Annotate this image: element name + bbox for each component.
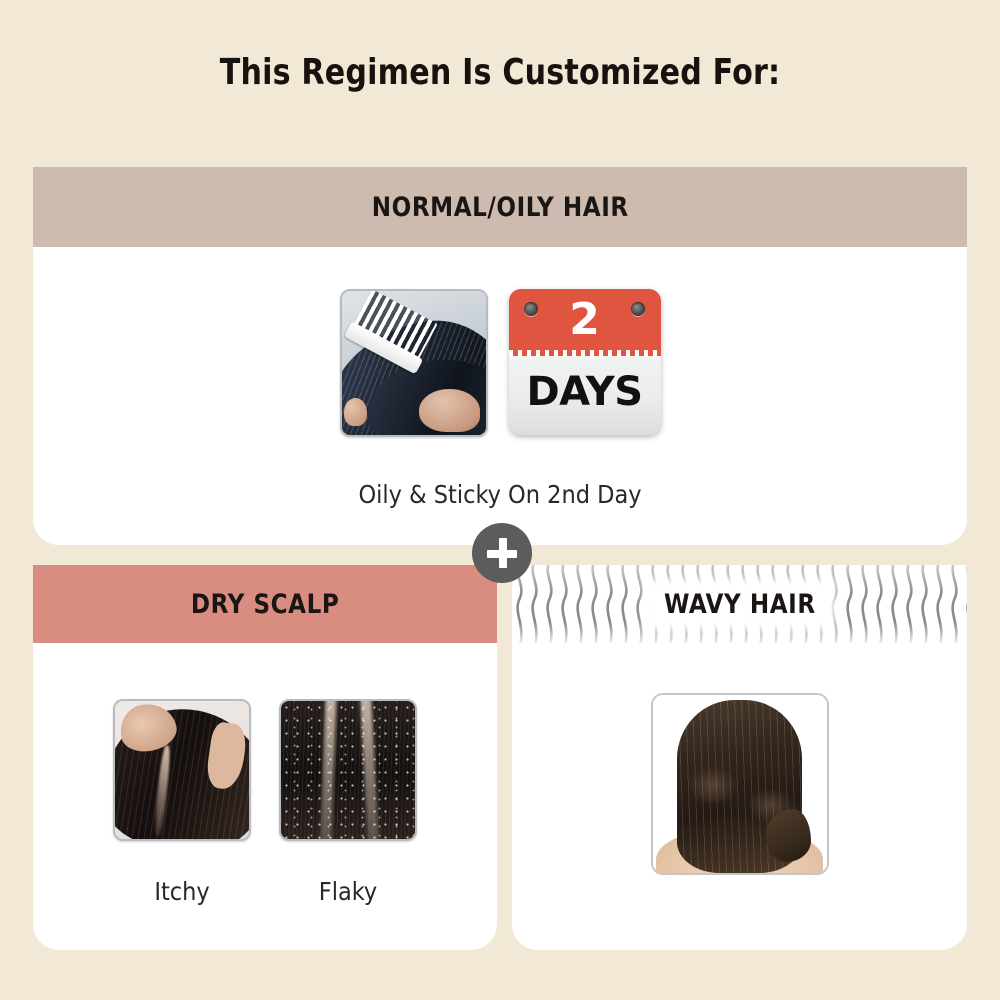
card-header-wavy-hair: WAVY HAIR (512, 565, 967, 643)
wavy-hair-back-view-photo (651, 693, 829, 875)
scalp-area (419, 389, 479, 432)
card-header-normal-oily: NORMAL/OILY HAIR (33, 167, 967, 247)
combing-oily-hair-photo (340, 289, 488, 437)
card-header-label-wavy-hair: WAVY HAIR (652, 587, 826, 622)
caption-itchy: Itchy (113, 877, 251, 906)
card-header-label-normal-oily: NORMAL/OILY HAIR (372, 192, 629, 223)
card-normal-oily-hair: NORMAL/OILY HAIR (33, 167, 967, 545)
calendar-icon: 2 DAYS (509, 289, 661, 435)
scalp-photo-row (33, 699, 497, 841)
flaky-scalp-photo (279, 699, 417, 841)
hair-curl-end (766, 809, 811, 862)
card-dry-scalp: DRY SCALP Itchy Flaky (33, 565, 497, 950)
card-header-label-dry-scalp: DRY SCALP (191, 589, 339, 620)
calendar-unit-label: DAYS (509, 372, 661, 412)
media-row-normal-oily: 2 DAYS (33, 289, 967, 437)
card-header-dry-scalp: DRY SCALP (33, 565, 497, 643)
itchy-scalp-photo (113, 699, 251, 841)
calendar-number: 2 (509, 298, 661, 342)
page-title: This Regimen Is Customized For: (35, 52, 965, 93)
plus-bar-vertical (499, 538, 507, 568)
card-body-normal-oily: 2 DAYS Oily & Sticky On 2nd Day (33, 247, 967, 545)
caption-oily-sticky: Oily & Sticky On 2nd Day (33, 480, 967, 509)
caption-flaky: Flaky (279, 877, 417, 906)
wavy-photo-wrap (512, 693, 967, 875)
dandruff-flakes (281, 701, 415, 839)
card-wavy-hair: WAVY HAIR (512, 565, 967, 950)
hand-thumb (344, 398, 367, 427)
plus-connector-icon (472, 523, 532, 583)
scalp-caption-row: Itchy Flaky (33, 877, 497, 906)
calendar-perforation (509, 350, 661, 357)
